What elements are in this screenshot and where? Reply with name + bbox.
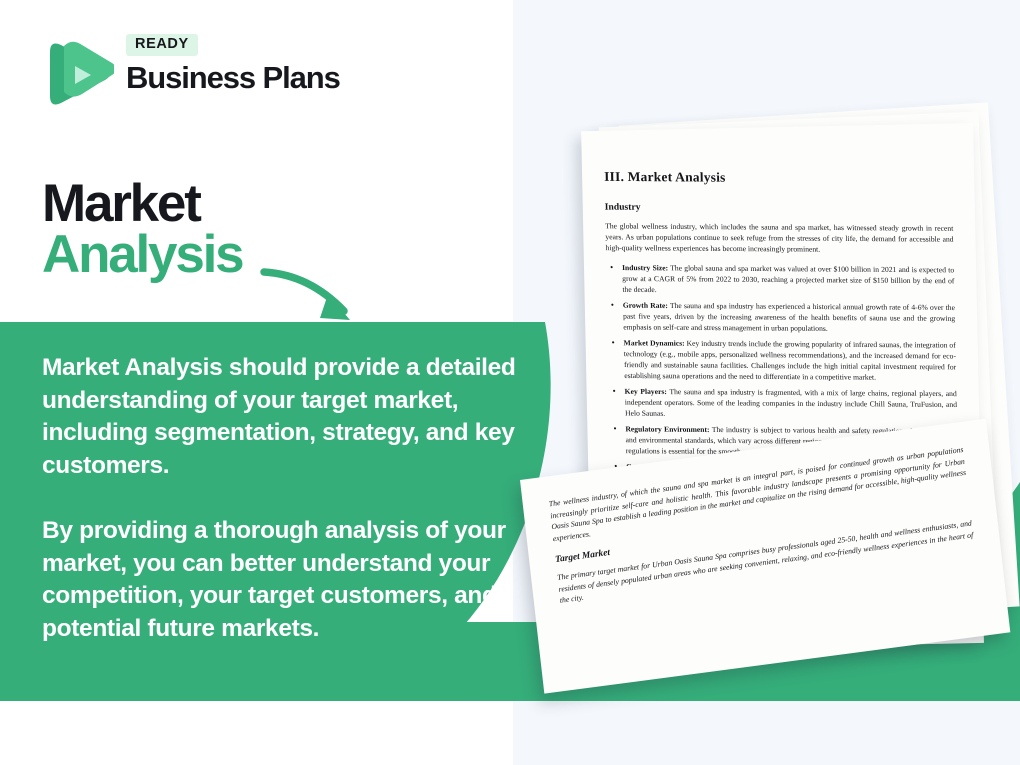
page-title: Market Analysis [42, 178, 242, 281]
bullet-text: The sauna and spa industry is fragmented… [625, 388, 957, 419]
copy-paragraph-2: By providing a thorough analysis of your… [42, 515, 562, 645]
bullet-term: Regulatory Environment: [625, 425, 709, 434]
bullet-text: The sauna and spa industry has experienc… [623, 302, 955, 334]
play-triangle-logo-icon [42, 36, 114, 112]
document-heading: III. Market Analysis [604, 169, 952, 187]
bullet-text: The global sauna and spa market was valu… [622, 264, 954, 295]
brand-logo-text: READY Business Plans [126, 34, 340, 95]
bullet-term: Key Players: [625, 387, 667, 396]
body-copy: Market Analysis should provide a detaile… [42, 352, 562, 646]
document-bullet-item: Market Dynamics: Key industry trends inc… [607, 338, 956, 384]
document-bullet-item: Growth Rate: The sauna and spa industry … [607, 300, 956, 335]
document-bullet-item: Key Players: The sauna and spa industry … [608, 386, 957, 421]
copy-paragraph-1: Market Analysis should provide a detaile… [42, 352, 562, 482]
document-preview-stack[interactable]: growthent.21 andsizerate ofs ofunas,ons)… [500, 95, 1020, 675]
bullet-term: Market Dynamics: [624, 339, 685, 348]
brand-name: Business Plans [126, 61, 340, 96]
bullet-term: Industry Size: [622, 264, 668, 273]
document-bullet-item: Industry Size: The global sauna and spa … [606, 262, 955, 297]
bullet-term: Growth Rate: [623, 301, 668, 310]
ready-badge: READY [126, 34, 198, 56]
brand-logo-block[interactable]: READY Business Plans [42, 34, 342, 118]
slide-canvas: READY Business Plans Market Analysis Mar… [0, 0, 1020, 765]
document-intro-paragraph: The global wellness industry, which incl… [605, 220, 954, 256]
document-subheading: Industry [605, 202, 953, 215]
page-title-line-2: Analysis [42, 229, 242, 280]
curved-arrow-down-right-icon [258, 258, 374, 330]
page-title-line-1: Market [42, 178, 242, 229]
